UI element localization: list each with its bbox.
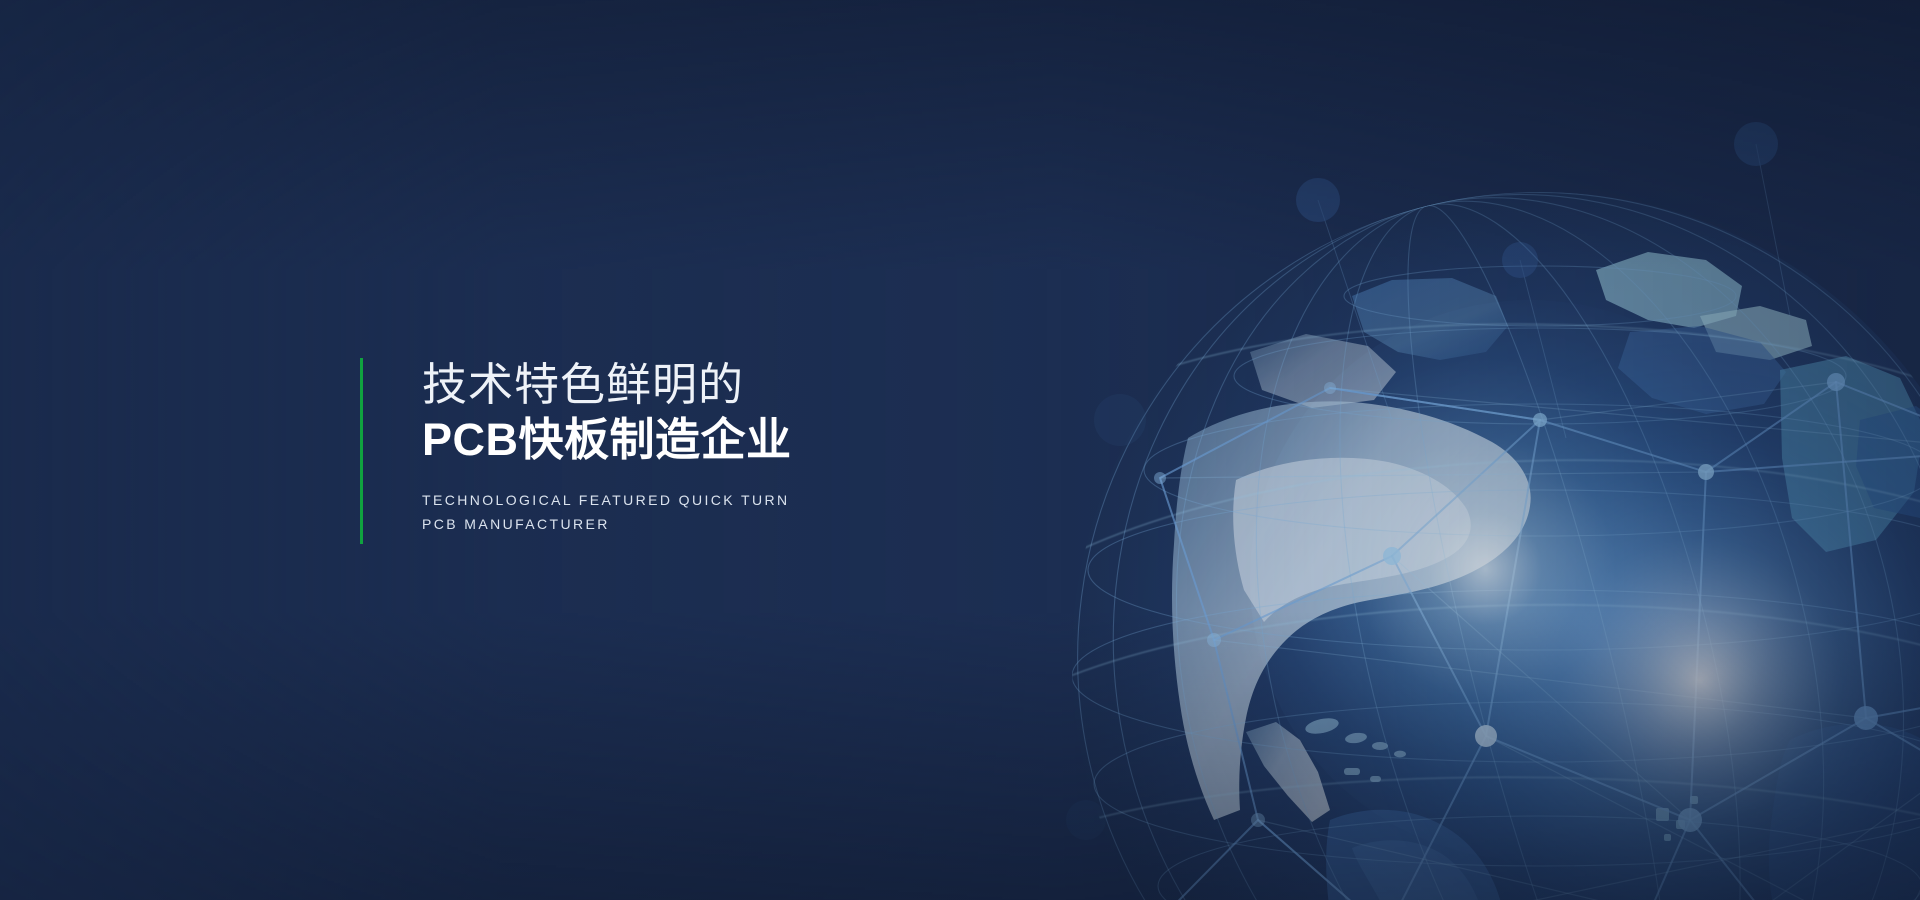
hero-copy: 技术特色鲜明的 PCB快板制造企业 TECHNOLOGICAL FEATURED… (363, 358, 792, 544)
hero-subtitle: TECHNOLOGICAL FEATURED QUICK TURN PCB MA… (422, 488, 792, 536)
background-vignette (0, 0, 1920, 900)
hero-banner: 技术特色鲜明的 PCB快板制造企业 TECHNOLOGICAL FEATURED… (0, 0, 1920, 900)
hero-text-block: 技术特色鲜明的 PCB快板制造企业 TECHNOLOGICAL FEATURED… (360, 358, 792, 544)
hero-title-line-2: PCB快板制造企业 (422, 413, 792, 466)
hero-title-line-1: 技术特色鲜明的 (422, 358, 792, 411)
hero-subtitle-line-1: TECHNOLOGICAL FEATURED QUICK TURN (422, 488, 792, 512)
hero-subtitle-line-2: PCB MANUFACTURER (422, 512, 792, 536)
